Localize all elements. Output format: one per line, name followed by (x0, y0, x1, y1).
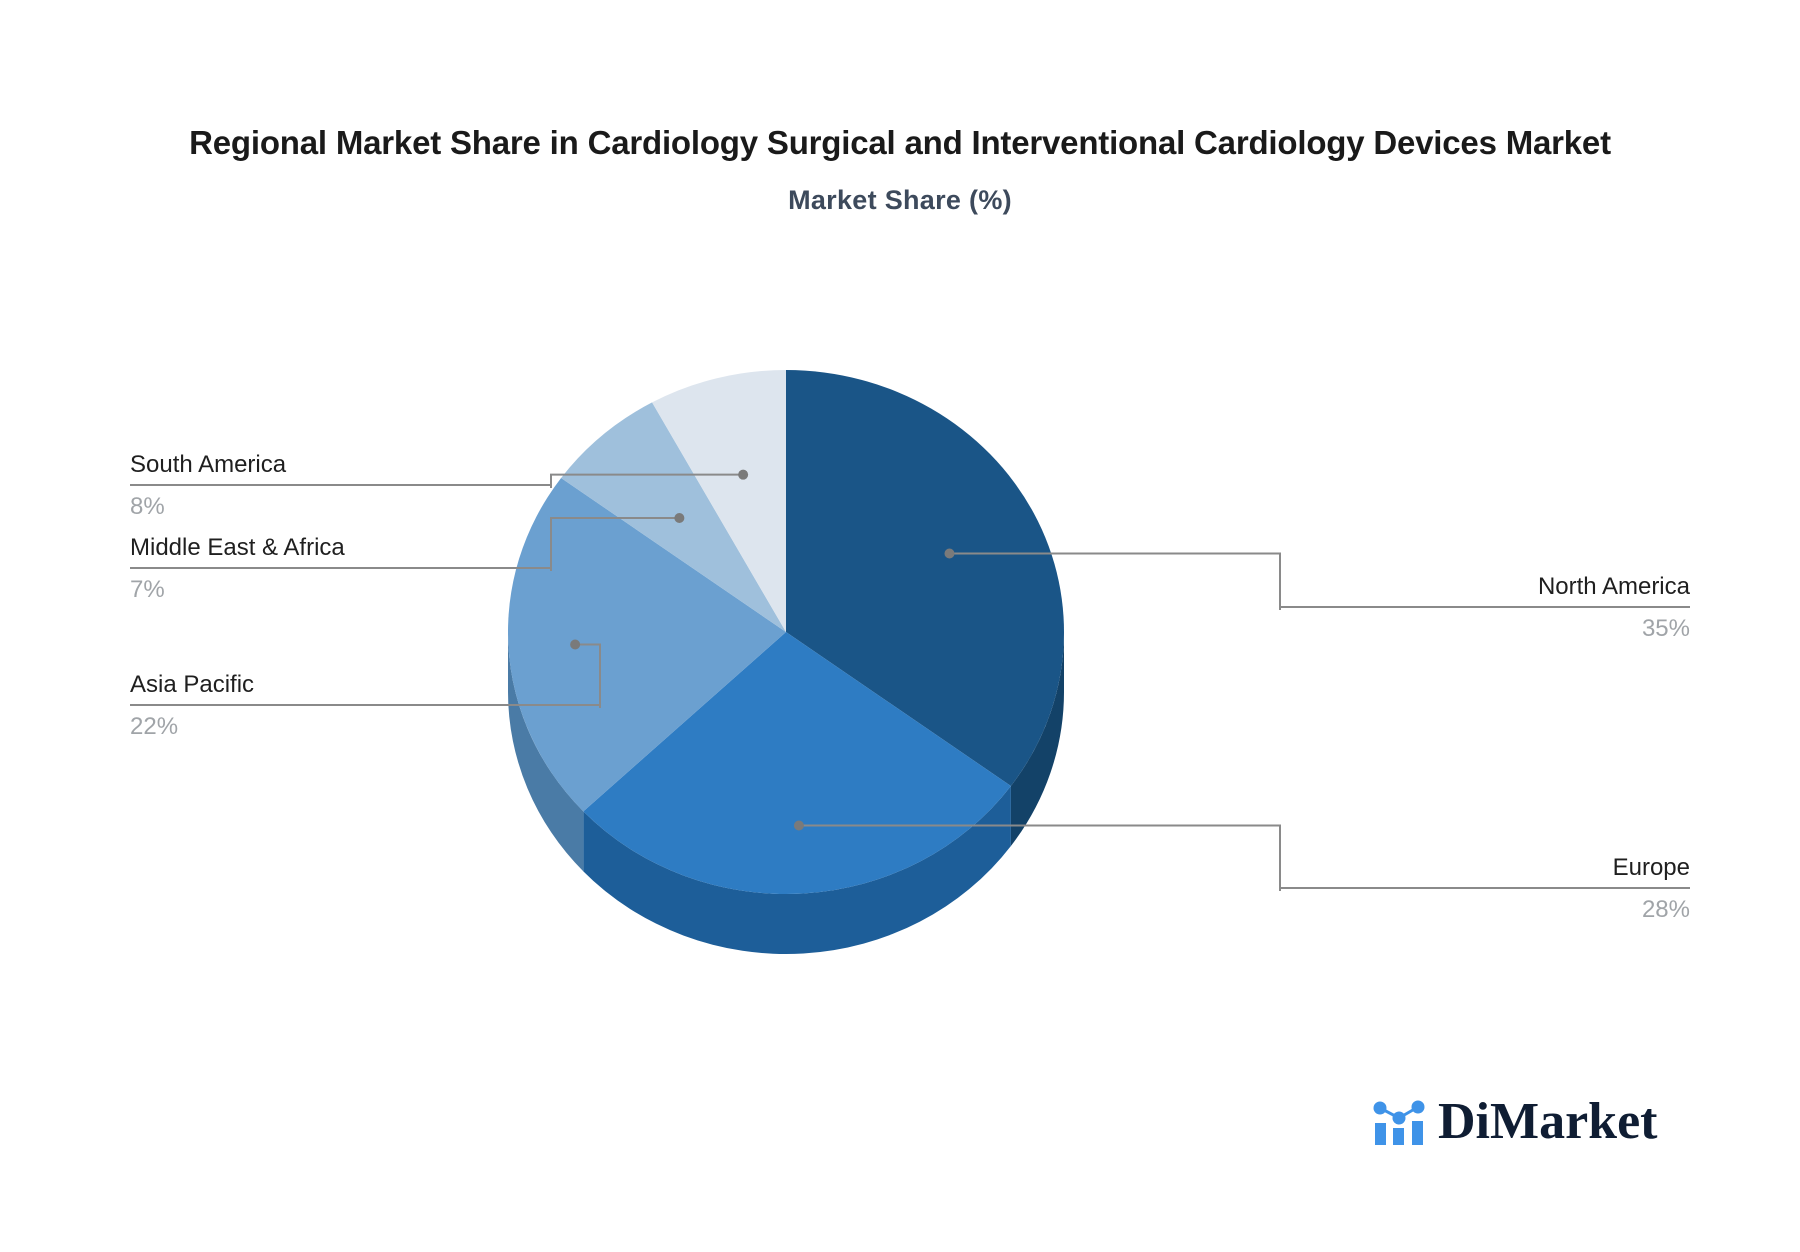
pie-top-surface (508, 370, 1064, 894)
chart-title: Regional Market Share in Cardiology Surg… (150, 120, 1650, 167)
chart-canvas: Regional Market Share in Cardiology Surg… (0, 0, 1800, 1252)
callout-value-south-america: 8% (130, 491, 550, 522)
chart-subtitle: Market Share (%) (150, 185, 1650, 216)
pie-side-north-america (1011, 632, 1064, 846)
bar-chart-icon-svg (1372, 1097, 1426, 1147)
callout-rule-asia-pacific (130, 704, 600, 706)
pie-slice-europe[interactable] (583, 632, 1011, 894)
callout-value-middle-east-africa: 7% (130, 574, 550, 605)
callout-label-south-america: South America (130, 450, 550, 480)
pie-slice-south-america[interactable] (652, 370, 786, 632)
brand-name: DiMarket (1438, 1096, 1657, 1148)
pie-slice-middle-east-africa[interactable] (561, 402, 786, 632)
callout-label-north-america: North America (1280, 572, 1690, 602)
leader-dot-asia-pacific (570, 640, 580, 650)
callout-asia-pacific[interactable]: Asia Pacific 22% (130, 670, 600, 742)
callout-rule-europe (1280, 887, 1690, 889)
leader-dot-middle-east-africa (674, 513, 684, 523)
callout-label-middle-east-africa: Middle East & Africa (130, 533, 550, 563)
pie-slice-north-america[interactable] (786, 370, 1064, 786)
callout-rule-middle-east-africa (130, 567, 550, 569)
leader-dot-south-america (738, 470, 748, 480)
pie-slice-asia-pacific[interactable] (508, 478, 786, 811)
leader-line-europe (799, 825, 1280, 891)
brand-logo: DiMarket (1372, 1096, 1657, 1148)
callout-value-europe: 28% (1280, 894, 1690, 925)
callout-rule-north-america (1280, 606, 1690, 608)
leader-line-north-america (949, 553, 1280, 610)
title-block: Regional Market Share in Cardiology Surg… (150, 120, 1650, 216)
leader-lines (551, 470, 1280, 891)
leader-dot-north-america (944, 548, 954, 558)
leader-line-south-america (551, 475, 743, 488)
pie-side-europe (583, 786, 1011, 954)
leader-line-middle-east-africa (551, 518, 679, 571)
leader-dot-europe (794, 820, 804, 830)
callout-label-asia-pacific: Asia Pacific (130, 670, 600, 700)
pie-side-asia-pacific (508, 632, 583, 871)
callout-rule-south-america (130, 484, 550, 486)
callout-value-asia-pacific: 22% (130, 711, 600, 742)
callout-north-america[interactable]: North America 35% (1280, 572, 1690, 644)
bar-chart-icon (1372, 1097, 1426, 1147)
callout-south-america[interactable]: South America 8% (130, 450, 550, 522)
callout-middle-east-africa[interactable]: Middle East & Africa 7% (130, 533, 550, 605)
callout-label-europe: Europe (1280, 853, 1690, 883)
callout-europe[interactable]: Europe 28% (1280, 853, 1690, 925)
callout-value-north-america: 35% (1280, 613, 1690, 644)
